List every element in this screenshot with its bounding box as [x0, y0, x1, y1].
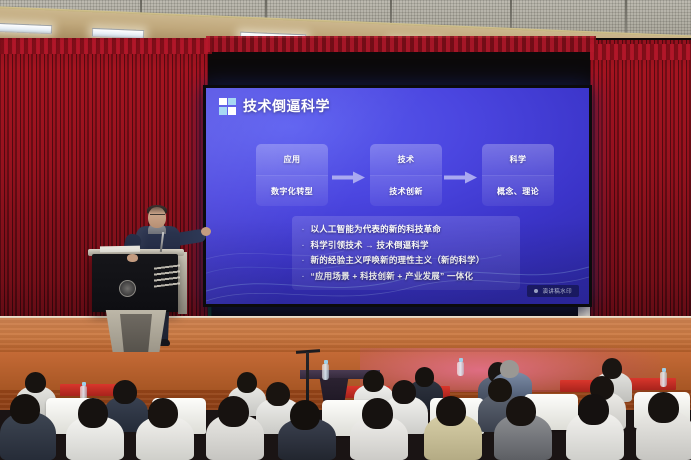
audience-head — [148, 398, 178, 428]
speaker-right-hand — [201, 227, 211, 236]
flow-box-top: 应用 — [256, 144, 328, 175]
water-bottle — [660, 372, 667, 387]
lecture-hall-scene: 技术倒逼科学 应用 数字化转型 技术 技术创新 科学 — [0, 0, 691, 460]
audience-head — [266, 382, 290, 406]
flow-box-bottom: 概念、理论 — [482, 175, 554, 206]
slide-header: 技术倒逼科学 — [219, 96, 330, 116]
bullet-text: 新的经验主义呼唤新的理性主义（新的科学） — [311, 254, 485, 266]
audience-head — [648, 392, 679, 423]
bullet-text: 以人工智能为代表的新的科技革命 — [311, 223, 442, 235]
audience-head — [78, 398, 108, 428]
bullet-marker: · — [302, 227, 305, 234]
slide-title: 技术倒逼科学 — [243, 96, 330, 116]
slide-bullet-panel: · 以人工智能为代表的新的科技革命 · 科学引领技术 → 技术倒逼科学 · 新的… — [292, 216, 520, 290]
presentation-slide: 技术倒逼科学 应用 数字化转型 技术 技术创新 科学 — [206, 88, 589, 304]
audience-head — [362, 398, 393, 429]
bullet-marker: · — [302, 243, 305, 250]
flow-column: 科学 概念、理论 — [482, 144, 554, 206]
university-crest-icon — [119, 280, 136, 297]
bullet-item: · 以人工智能为代表的新的科技革命 — [302, 223, 510, 235]
red-stage-curtain-right — [590, 40, 691, 340]
bullet-marker: · — [302, 274, 305, 281]
flow-column: 技术 技术创新 — [370, 144, 442, 206]
podium-notes — [100, 246, 140, 253]
flow-box-top: 技术 — [370, 144, 442, 175]
footer-text: 演讲稿水印 — [542, 287, 572, 295]
curtain-valance-right — [590, 44, 691, 60]
audience-head — [500, 360, 519, 378]
flow-box-bottom: 数字化转型 — [256, 175, 328, 206]
audience-head — [488, 378, 512, 402]
audience-head — [578, 394, 609, 425]
projection-screen: 技术倒逼科学 应用 数字化转型 技术 技术创新 科学 — [203, 85, 592, 307]
podium-vent-stripes — [154, 264, 180, 287]
slide-flow-diagram: 应用 数字化转型 技术 技术创新 科学 概念、理论 — [256, 144, 556, 209]
audience-head — [506, 396, 536, 426]
flow-box-top: 科学 — [482, 144, 554, 175]
bullet-text: “应用场景 + 科技创新 + 产业发展” 一体化 — [311, 270, 474, 282]
speaker-left-hand — [127, 254, 138, 262]
audience-head — [237, 372, 257, 393]
curtain-valance-center — [206, 36, 596, 52]
bullet-item: · “应用场景 + 科技创新 + 产业发展” 一体化 — [302, 270, 510, 282]
audience-head — [10, 394, 40, 424]
bullet-marker: · — [302, 258, 305, 265]
red-seat-back — [60, 384, 116, 396]
flow-box-bottom: 技术创新 — [370, 175, 442, 206]
audience-head — [25, 372, 46, 393]
footer-dot-icon — [534, 289, 538, 293]
audience-head — [113, 380, 137, 404]
right-arrow-icon — [332, 171, 366, 184]
audience-head — [218, 396, 249, 427]
right-arrow-icon — [444, 171, 478, 184]
audience-head — [436, 396, 466, 426]
audience-head — [392, 380, 416, 404]
bullet-item: · 科学引领技术 → 技术倒逼科学 — [302, 239, 510, 251]
four-square-grid-icon — [219, 98, 236, 115]
speaker-glasses-icon — [150, 214, 165, 218]
curtain-valance-left — [0, 38, 212, 54]
bullet-text: 科学引领技术 → 技术倒逼科学 — [311, 239, 429, 251]
bullet-item: · 新的经验主义呼唤新的理性主义（新的科学） — [302, 254, 510, 266]
audience-head — [290, 400, 320, 430]
slide-footer-watermark: 演讲稿水印 — [527, 285, 579, 297]
water-bottle — [322, 364, 329, 380]
audience-head — [363, 370, 384, 392]
audience-head — [415, 367, 434, 387]
flow-column: 应用 数字化转型 — [256, 144, 328, 206]
water-bottle — [457, 362, 464, 376]
